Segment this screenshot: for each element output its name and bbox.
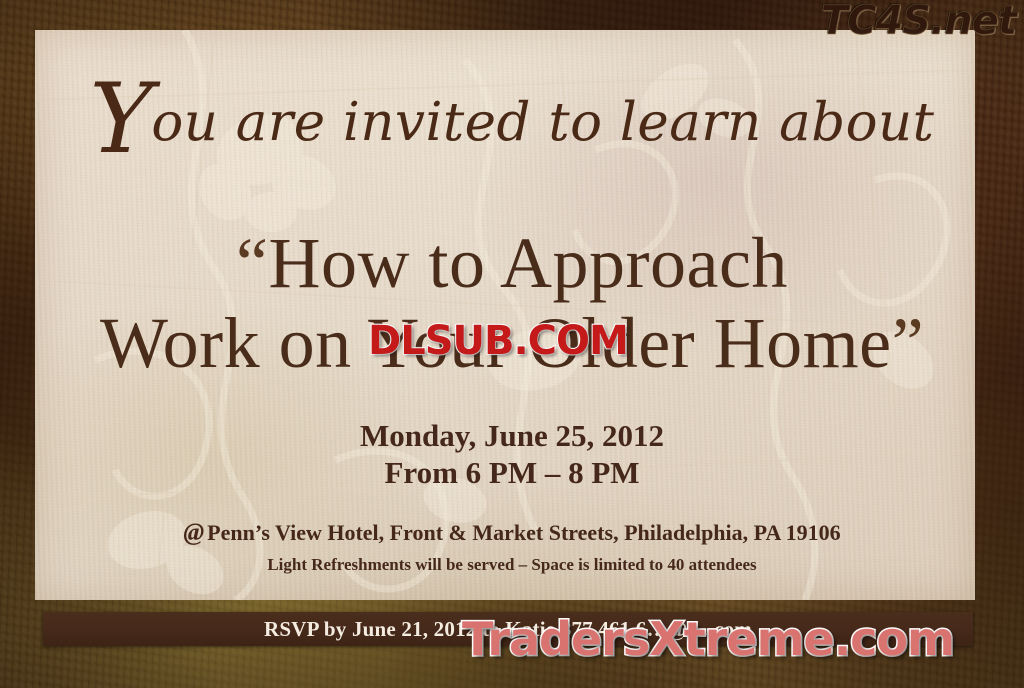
watermark-tradersxtreme-text: TradersXtreme.com [462,612,954,666]
invite-script-line: You are invited to learn about [0,92,1024,153]
event-time: From 6 PM – 8 PM [0,455,1024,491]
invitation-flyer: You are invited to learn about “How to A… [0,0,1024,688]
headline-text-1: How to Approach [269,223,788,303]
watermark-dlsub-text: DLSUB.COM [368,318,628,364]
venue-text: Penn’s View Hotel, Front & Market Street… [207,520,840,545]
refreshments-note: Light Refreshments will be served – Spac… [0,555,1024,575]
watermark-tc4s: TC4S.net [821,0,1016,44]
open-quote: “ [236,223,268,303]
script-dropcap: Y [90,63,154,175]
event-venue: @Penn’s View Hotel, Front & Market Stree… [0,519,1024,547]
watermark-tradersxtreme: TradersXtreme.com [462,612,954,666]
at-symbol-icon: @ [183,519,204,546]
watermark-dlsub: DLSUB.COM [368,318,628,364]
close-quote: ” [892,303,924,383]
script-rest: ou are invited to learn about [151,92,934,153]
headline-line-1: “How to Approach [0,222,1024,305]
event-date: Monday, June 25, 2012 [0,418,1024,454]
